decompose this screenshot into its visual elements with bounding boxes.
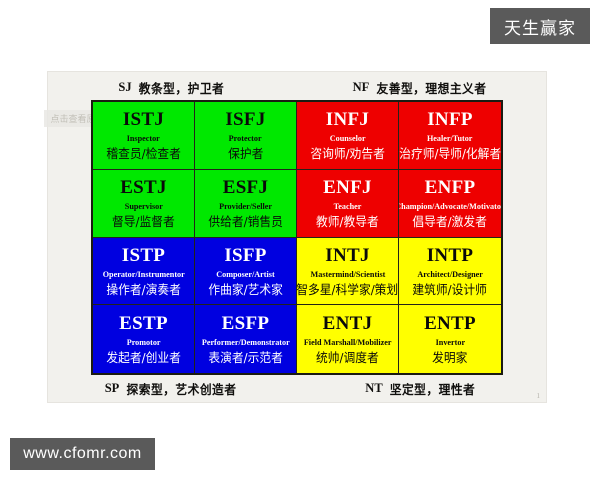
mbti-type-english: Provider/Seller xyxy=(219,202,272,211)
mbti-cell-estp: ESTPPromotor发起者/创业者 xyxy=(93,305,195,373)
mbti-type-grid: ISTJInspector稽查员/检查者ISFJProtector保护者INFJ… xyxy=(91,100,503,375)
mbti-type-chinese: 治疗师/导师/化解者 xyxy=(399,147,501,160)
quadrant-headers-bottom: SP 探索型，艺术创造者 NT 坚定型，理性者 xyxy=(48,375,546,401)
quadrant-headers-top: SJ 教条型，护卫者 NF 友善型，理想主义者 xyxy=(48,74,546,100)
mbti-type-code: ESTJ xyxy=(120,178,167,198)
mbti-cell-entp: ENTPInvertor发明家 xyxy=(399,305,501,373)
mbti-type-english: Mastermind/Scientist xyxy=(310,270,385,279)
mbti-cell-infj: INFJCounselor咨询师/劝告者 xyxy=(297,102,399,170)
mbti-type-chinese: 督导/监督者 xyxy=(112,215,175,228)
mbti-type-chinese: 保护者 xyxy=(228,147,263,160)
mbti-type-chinese: 操作者/演奏者 xyxy=(106,283,180,296)
mbti-cell-infp: INFPHealer/Tutor治疗师/导师/化解者 xyxy=(399,102,501,170)
mbti-type-chinese: 智多星/科学家/策划 xyxy=(297,283,398,296)
quadrant-header-sp-label: 探索型，艺术创造者 xyxy=(127,383,237,396)
brand-badge-label: 天生赢家 xyxy=(504,14,576,39)
quadrant-header-nf: NF 友善型，理想主义者 xyxy=(297,74,546,100)
mbti-type-code: ESTP xyxy=(119,314,168,334)
mbti-type-code: INFJ xyxy=(326,110,369,130)
quadrant-header-nf-label: 友善型，理想主义者 xyxy=(377,82,487,95)
mbti-type-english: Promotor xyxy=(127,338,161,347)
quadrant-header-sj: SJ 教条型，护卫者 xyxy=(48,74,297,100)
quadrant-header-sp-code: SP xyxy=(105,381,120,396)
mbti-cell-istj: ISTJInspector稽查员/检查者 xyxy=(93,102,195,170)
mbti-type-code: INTP xyxy=(427,246,474,266)
quadrant-header-nt-code: NT xyxy=(365,381,382,396)
mbti-type-english: Teacher xyxy=(334,202,362,211)
mbti-type-english: Protector xyxy=(229,134,262,143)
mbti-type-code: ISFP xyxy=(224,246,266,266)
quadrant-header-nt: NT 坚定型，理性者 xyxy=(297,375,546,401)
mbti-cell-estj: ESTJSupervisor督导/监督者 xyxy=(93,170,195,238)
mbti-type-code: ESFJ xyxy=(223,178,269,198)
quadrant-header-nt-label: 坚定型，理性者 xyxy=(389,383,475,396)
mbti-type-chinese: 倡导者/激发者 xyxy=(413,215,487,228)
page-number: 1 xyxy=(537,392,541,400)
quadrant-header-sj-code: SJ xyxy=(118,80,131,95)
mbti-cell-intj: INTJMastermind/Scientist智多星/科学家/策划 xyxy=(297,238,399,306)
mbti-type-code: ENTP xyxy=(424,314,476,334)
quadrant-header-nf-code: NF xyxy=(353,80,370,95)
mbti-cell-esfj: ESFJProvider/Seller供给者/销售员 xyxy=(195,170,297,238)
mbti-cell-enfp: ENFPChampion/Advocate/Motivator倡导者/激发者 xyxy=(399,170,501,238)
mbti-type-chinese: 作曲家/艺术家 xyxy=(208,283,282,296)
mbti-type-code: ENTJ xyxy=(323,314,373,334)
mbti-type-english: Architect/Designer xyxy=(417,270,483,279)
site-watermark-label: www.cfomr.com xyxy=(23,445,142,463)
mbti-type-english: Invertor xyxy=(435,338,464,347)
mbti-type-chinese: 统帅/调度者 xyxy=(316,351,379,364)
mbti-type-chinese: 教师/教导者 xyxy=(316,215,379,228)
mbti-type-english: Supervisor xyxy=(124,202,162,211)
mbti-cell-enfj: ENFJTeacher教师/教导者 xyxy=(297,170,399,238)
mbti-type-english: Healer/Tutor xyxy=(427,134,472,143)
mbti-type-code: ISTJ xyxy=(123,110,164,130)
mbti-type-code: INTJ xyxy=(325,246,370,266)
mbti-cell-intp: INTPArchitect/Designer建筑师/设计师 xyxy=(399,238,501,306)
mbti-chart-panel: 点击查看原网页 SJ 教条型，护卫者 NF 友善型，理想主义者 ISTJInsp… xyxy=(48,72,546,402)
brand-badge: 天生赢家 xyxy=(490,8,590,44)
mbti-type-english: Operator/Instrumentor xyxy=(102,270,184,279)
mbti-type-english: Counselor xyxy=(330,134,366,143)
mbti-type-chinese: 发明家 xyxy=(432,351,467,364)
mbti-type-english: Field Marshall/Mobilizer xyxy=(304,338,392,347)
mbti-type-code: ENFJ xyxy=(323,178,372,198)
mbti-type-chinese: 供给者/销售员 xyxy=(208,215,282,228)
mbti-type-code: ESFP xyxy=(222,314,270,334)
mbti-type-code: ISFJ xyxy=(225,110,265,130)
quadrant-header-sp: SP 探索型，艺术创造者 xyxy=(48,375,297,401)
mbti-cell-isfj: ISFJProtector保护者 xyxy=(195,102,297,170)
mbti-type-chinese: 咨询师/劝告者 xyxy=(310,147,384,160)
mbti-type-code: ENFP xyxy=(425,178,476,198)
mbti-type-chinese: 建筑师/设计师 xyxy=(413,283,487,296)
mbti-type-code: INFP xyxy=(427,110,473,130)
mbti-type-chinese: 表演者/示范者 xyxy=(208,351,282,364)
quadrant-header-sj-label: 教条型，护卫者 xyxy=(138,82,224,95)
mbti-type-code: ISTP xyxy=(122,246,165,266)
mbti-cell-isfp: ISFPComposer/Artist作曲家/艺术家 xyxy=(195,238,297,306)
site-watermark: www.cfomr.com xyxy=(10,438,155,470)
mbti-type-chinese: 发起者/创业者 xyxy=(106,351,180,364)
mbti-cell-istp: ISTPOperator/Instrumentor操作者/演奏者 xyxy=(93,238,195,306)
mbti-type-english: Inspector xyxy=(127,134,160,143)
mbti-cell-entj: ENTJField Marshall/Mobilizer统帅/调度者 xyxy=(297,305,399,373)
mbti-type-english: Champion/Advocate/Motivator xyxy=(399,202,501,211)
mbti-type-english: Composer/Artist xyxy=(216,270,274,279)
mbti-cell-esfp: ESFPPerformer/Demonstrator表演者/示范者 xyxy=(195,305,297,373)
mbti-type-chinese: 稽查员/检查者 xyxy=(106,147,180,160)
mbti-type-english: Performer/Demonstrator xyxy=(202,338,290,347)
